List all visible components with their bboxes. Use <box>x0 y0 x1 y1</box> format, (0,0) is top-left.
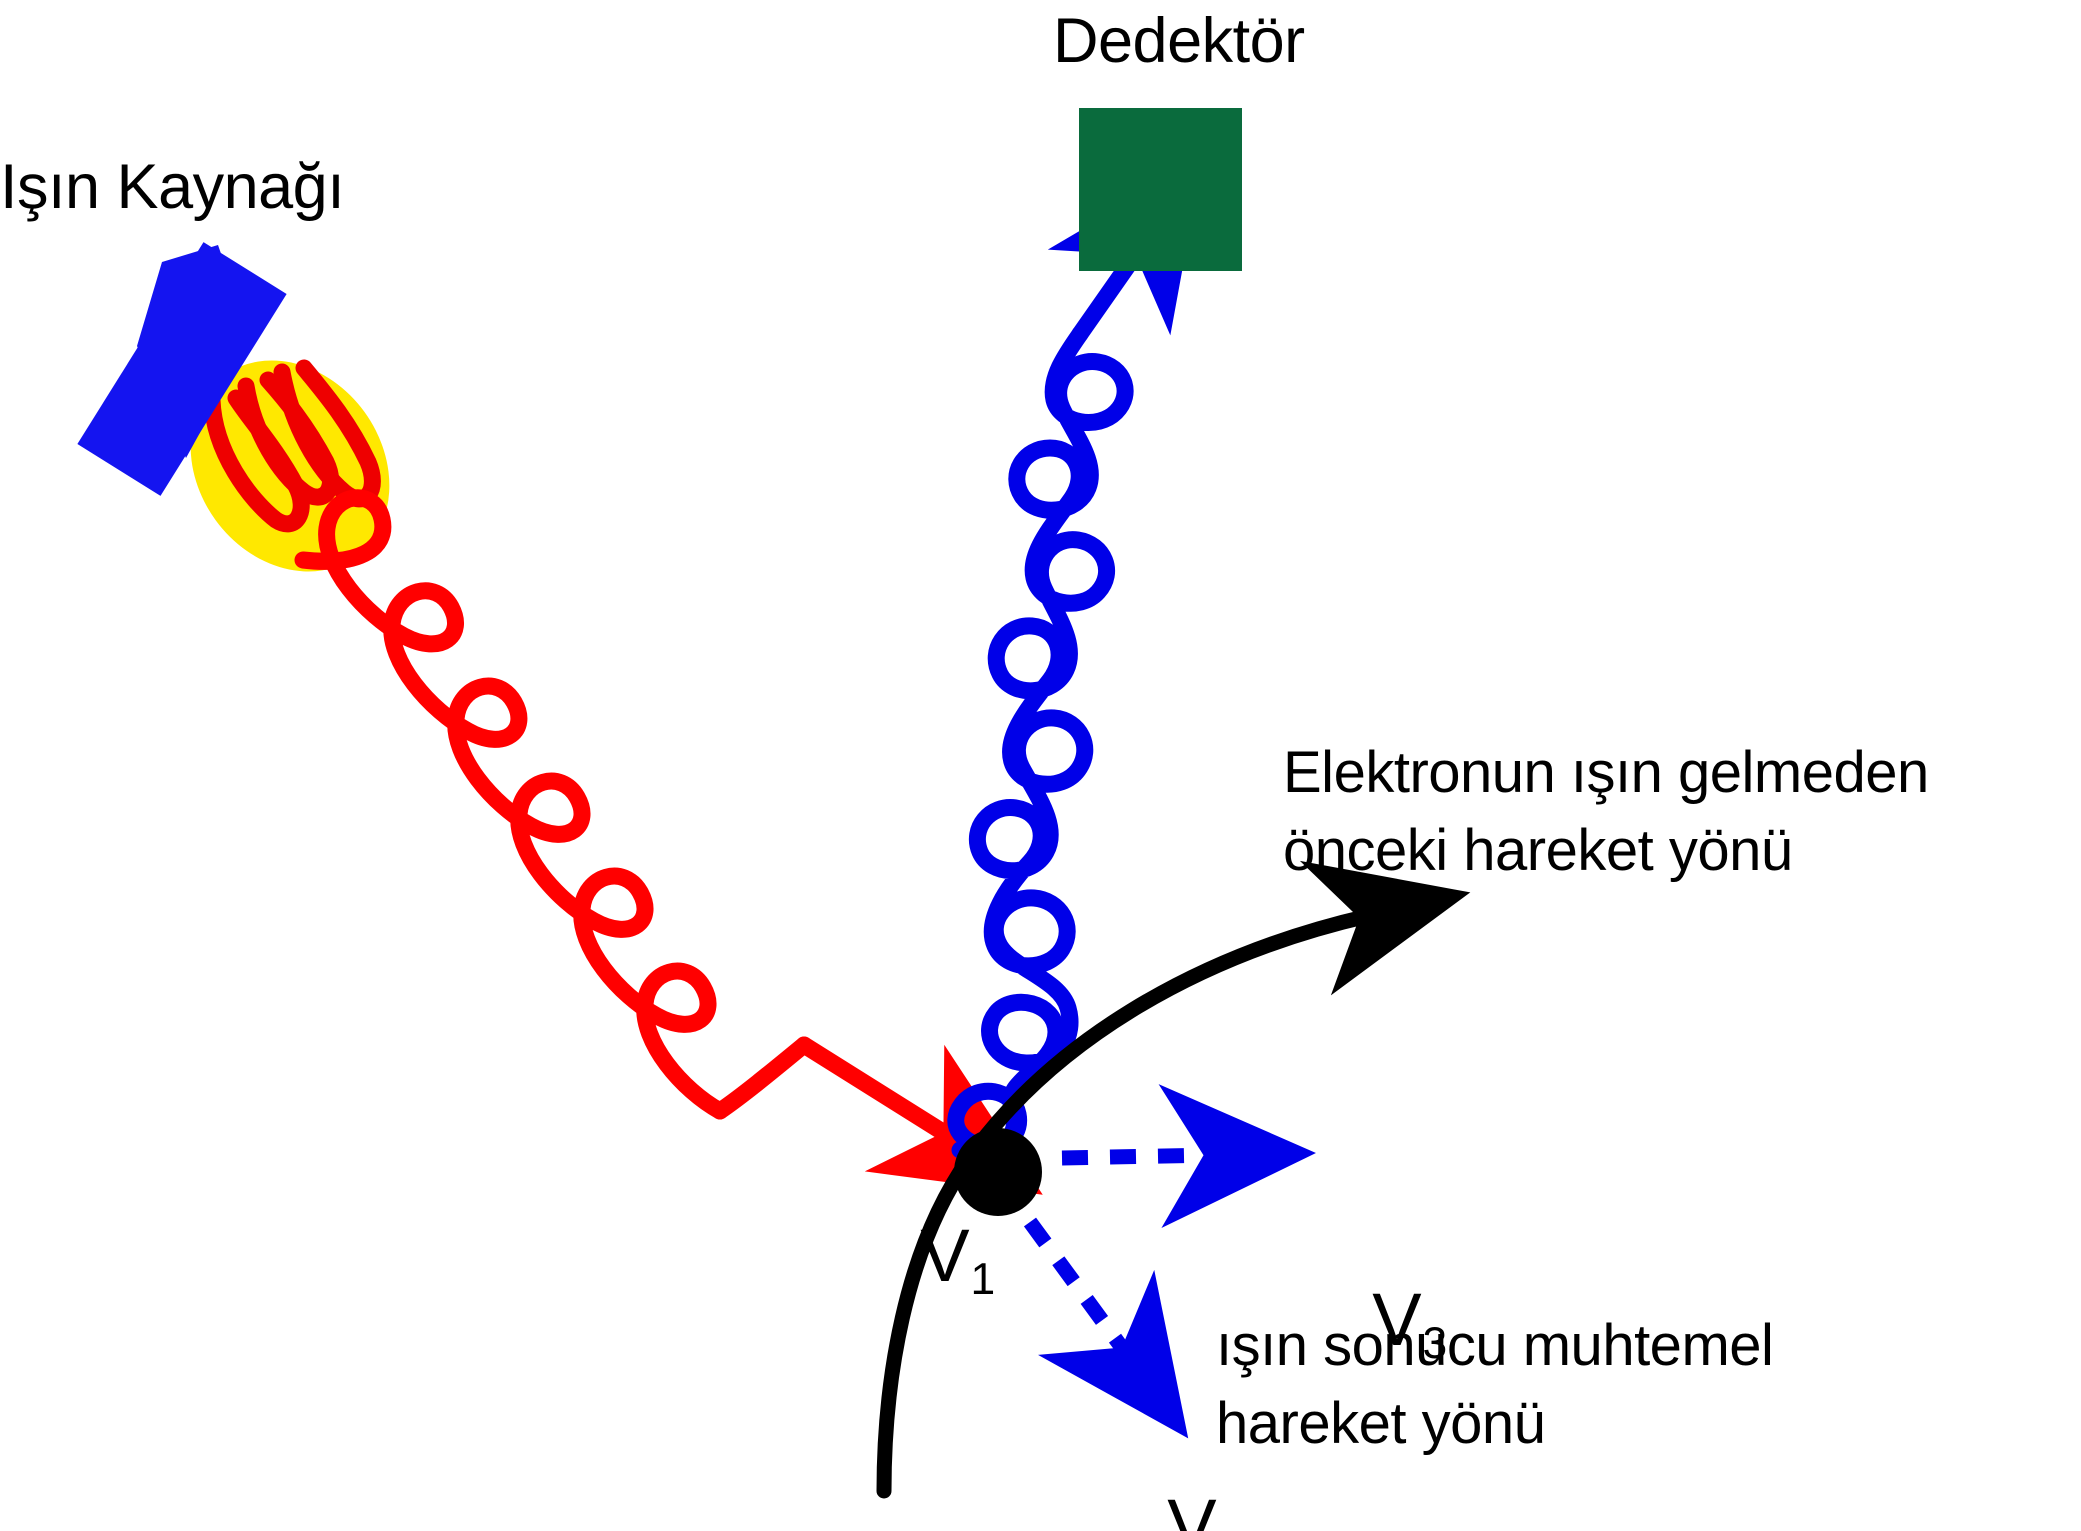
v2-label: V2 <box>1085 1398 1241 1531</box>
v1-label: V1 <box>838 1128 994 1383</box>
v1-subscript: 1 <box>970 1255 995 1304</box>
dashed-arrow-right-icon <box>1062 1155 1214 1158</box>
v3-subscript: 3 <box>1422 1319 1447 1368</box>
diagram-canvas: Işın Kaynağı Dedektör Elektronun ışın ge… <box>0 0 2081 1531</box>
v1-letter: V <box>920 1214 969 1297</box>
detector-square-icon <box>1079 108 1242 271</box>
electron-before-label-line2: önceki hareket yönü <box>1283 817 1793 885</box>
electron-before-label-line1: Elektronun ışın gelmeden <box>1283 739 1929 807</box>
dashed-arrow-down-right-icon <box>1030 1222 1128 1356</box>
v3-letter: V <box>1372 1278 1421 1361</box>
source-label: Işın Kaynağı <box>0 150 344 224</box>
v2-subscript: 2 <box>1217 1525 1242 1531</box>
detector-label: Dedektör <box>1053 4 1305 78</box>
red-wavy-photon-icon <box>303 498 965 1146</box>
v3-label: V3 <box>1290 1192 1446 1447</box>
v2-letter: V <box>1167 1484 1216 1531</box>
